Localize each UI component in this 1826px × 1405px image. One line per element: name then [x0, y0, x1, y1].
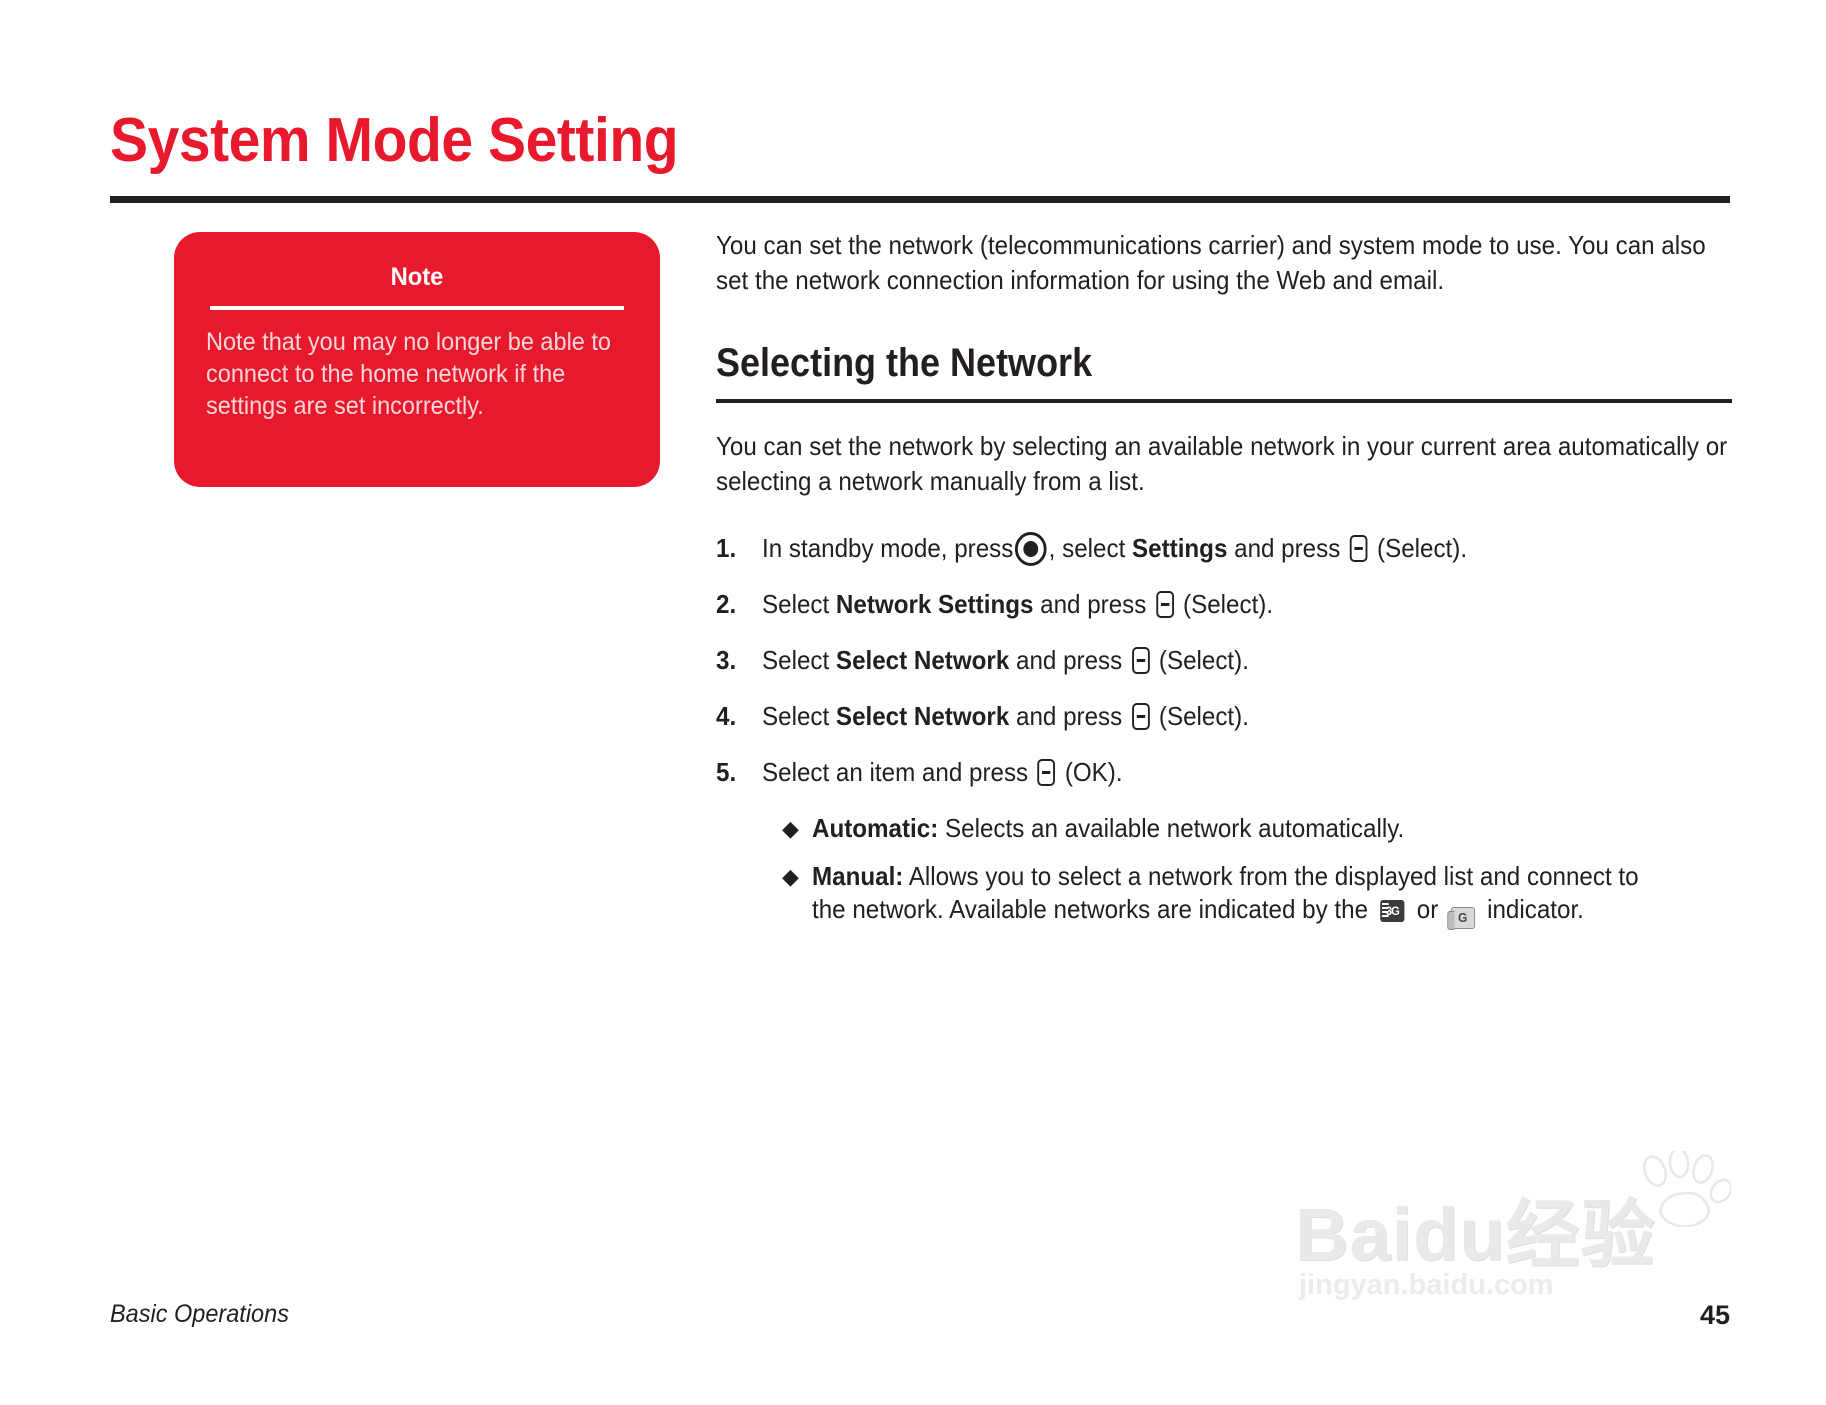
step-text-after: (OK). — [1058, 757, 1122, 787]
step-text-after: (Select). — [1152, 701, 1249, 731]
step-number: 5. — [716, 756, 759, 790]
soft-key-icon — [1132, 647, 1150, 674]
section-divider — [716, 399, 1732, 403]
diamond-bullet-icon: ◆ — [782, 812, 812, 846]
option-description: Selects an available network automatical… — [938, 813, 1404, 843]
option-label: Manual: — [812, 861, 903, 891]
section-heading: Selecting the Network — [716, 341, 1630, 385]
network-3g-indicator-icon: 3G — [1380, 900, 1404, 922]
soft-key-icon — [1156, 591, 1174, 618]
step-text-mid: and press — [1033, 589, 1153, 619]
step-item: 1. In standby mode, press, select Settin… — [716, 532, 1732, 566]
list-item: ◆ Automatic: Selects an available networ… — [782, 812, 1732, 846]
step-text-mid: and press — [1009, 701, 1129, 731]
option-label: Automatic: — [812, 813, 938, 843]
soft-key-icon — [1132, 703, 1150, 730]
step-text: Select Select Network and press (Select)… — [762, 644, 1664, 678]
note-heading: Note — [217, 254, 618, 292]
center-select-key-icon — [1015, 532, 1047, 566]
step-text: In standby mode, press, select Settings … — [762, 532, 1664, 566]
option-conjunction: or — [1410, 894, 1445, 924]
note-divider — [210, 306, 624, 310]
option-bullet-list: ◆ Automatic: Selects an available networ… — [782, 812, 1732, 930]
step-item: 4. Select Select Network and press (Sele… — [716, 700, 1732, 734]
watermark-sub-text: jingyan.baidu.com — [1299, 1269, 1554, 1302]
baidu-jingyan-watermark: Baidu经验 jingyan.baidu.com — [1295, 1165, 1735, 1315]
watermark-main-text: Baidu经验 — [1295, 1175, 1656, 1282]
step-text-after: (Select). — [1370, 533, 1467, 563]
option-description-part2: indicator. — [1480, 894, 1584, 924]
network-g-indicator-icon: G — [1451, 907, 1475, 929]
network-3g-indicator-label: 3G — [1386, 904, 1399, 918]
step-text-after: (Select). — [1152, 645, 1249, 675]
option-text: Manual: Allows you to select a network f… — [812, 860, 1668, 930]
step-number: 1. — [716, 532, 759, 566]
step-item: 2. Select Network Settings and press (Se… — [716, 588, 1732, 622]
step-number: 3. — [716, 644, 759, 678]
step-bold-term: Select Network — [836, 645, 1009, 675]
step-text: Select Network Settings and press (Selec… — [762, 588, 1664, 622]
footer-page-number: 45 — [1700, 1300, 1730, 1331]
numbered-step-list: 1. In standby mode, press, select Settin… — [716, 532, 1732, 929]
step-bold-term: Settings — [1132, 533, 1227, 563]
soft-key-icon — [1350, 535, 1368, 562]
step-text-before: Select an item and press — [762, 757, 1035, 787]
main-content-column: You can set the network (telecommunicati… — [716, 228, 1732, 943]
step-bold-term: Select Network — [836, 701, 1009, 731]
option-text: Automatic: Selects an available network … — [812, 812, 1668, 846]
step-number: 4. — [716, 700, 759, 734]
footer-section-label: Basic Operations — [110, 1300, 289, 1329]
step-item: 5. Select an item and press (OK). — [716, 756, 1732, 790]
step-text-before: Select — [762, 589, 836, 619]
step-text-mid2: and press — [1227, 533, 1347, 563]
step-number: 2. — [716, 588, 759, 622]
step-text-mid: , select — [1049, 533, 1132, 563]
step-text-mid: and press — [1009, 645, 1129, 675]
section-paragraph: You can set the network by selecting an … — [716, 429, 1732, 498]
step-text: Select Select Network and press (Select)… — [762, 700, 1664, 734]
list-item: ◆ Manual: Allows you to select a network… — [782, 860, 1732, 930]
intro-paragraph: You can set the network (telecommunicati… — [716, 228, 1732, 297]
step-text-after: (Select). — [1176, 589, 1273, 619]
note-callout-box: Note Note that you may no longer be able… — [174, 232, 660, 487]
note-body-text: Note that you may no longer be able to c… — [206, 326, 626, 422]
step-text-before: Select — [762, 701, 836, 731]
soft-key-icon — [1038, 759, 1056, 786]
document-page: System Mode Setting Note Note that you m… — [0, 0, 1826, 1405]
diamond-bullet-icon: ◆ — [782, 860, 812, 894]
step-item: 3. Select Select Network and press (Sele… — [716, 644, 1732, 678]
step-bold-term: Network Settings — [836, 589, 1034, 619]
step-text-before: Select — [762, 645, 836, 675]
step-text: Select an item and press (OK). — [762, 756, 1664, 790]
title-divider — [110, 196, 1730, 203]
paw-print-icon — [1635, 1151, 1731, 1227]
step-text-before: In standby mode, press — [762, 533, 1013, 563]
page-title: System Mode Setting — [110, 110, 678, 172]
